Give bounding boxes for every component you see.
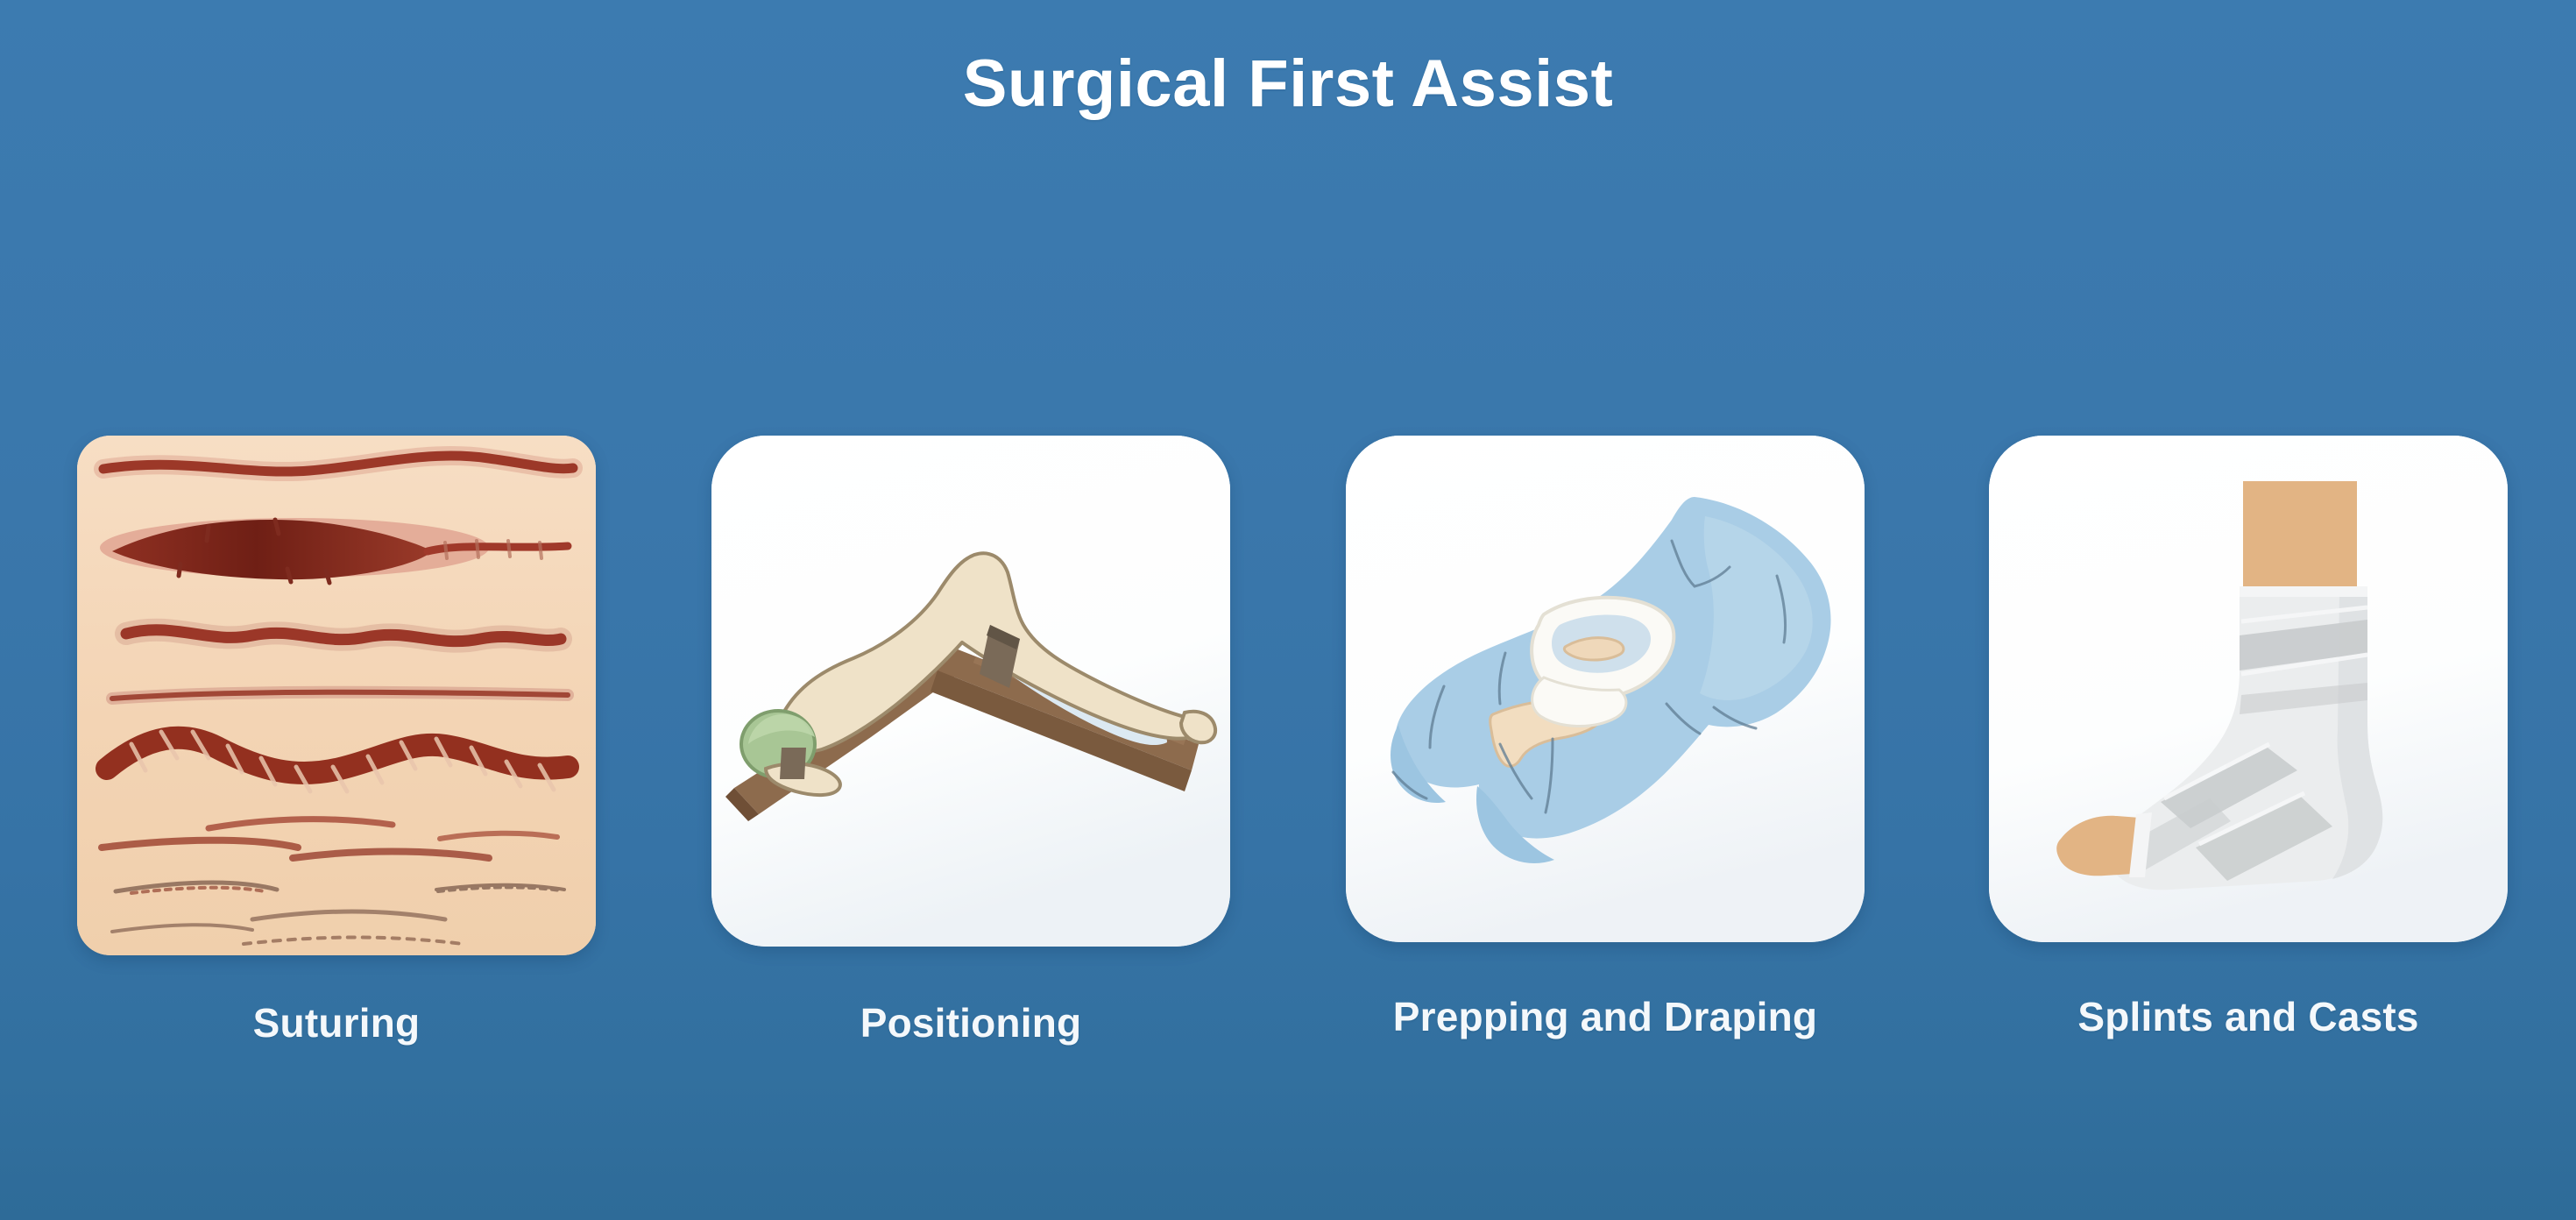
wound-lacerations-icon bbox=[77, 436, 596, 955]
card-positioning[interactable]: Positioning bbox=[711, 436, 1230, 947]
casted-foot-icon bbox=[1989, 436, 2508, 942]
card-label-positioning: Positioning bbox=[711, 999, 1230, 1046]
card-image-prepping-draping[interactable] bbox=[1346, 436, 1865, 942]
surgical-drape-icon bbox=[1346, 436, 1865, 942]
card-label-prepping-draping: Prepping and Draping bbox=[1346, 993, 1865, 1040]
card-label-splints-casts: Splints and Casts bbox=[1989, 993, 2508, 1040]
card-image-suturing[interactable] bbox=[77, 436, 596, 955]
card-label-suturing: Suturing bbox=[77, 999, 596, 1046]
card-splints-casts[interactable]: Splints and Casts bbox=[1989, 436, 2508, 942]
card-prepping-draping[interactable]: Prepping and Draping bbox=[1346, 436, 1865, 942]
patient-jackknife-position-icon bbox=[711, 436, 1230, 947]
card-image-positioning[interactable] bbox=[711, 436, 1230, 947]
page-title: Surgical First Assist bbox=[0, 51, 2576, 117]
slide-root: Surgical First Assist bbox=[0, 0, 2576, 1220]
card-image-splints-casts[interactable] bbox=[1989, 436, 2508, 942]
card-suturing[interactable]: Suturing bbox=[77, 436, 596, 955]
